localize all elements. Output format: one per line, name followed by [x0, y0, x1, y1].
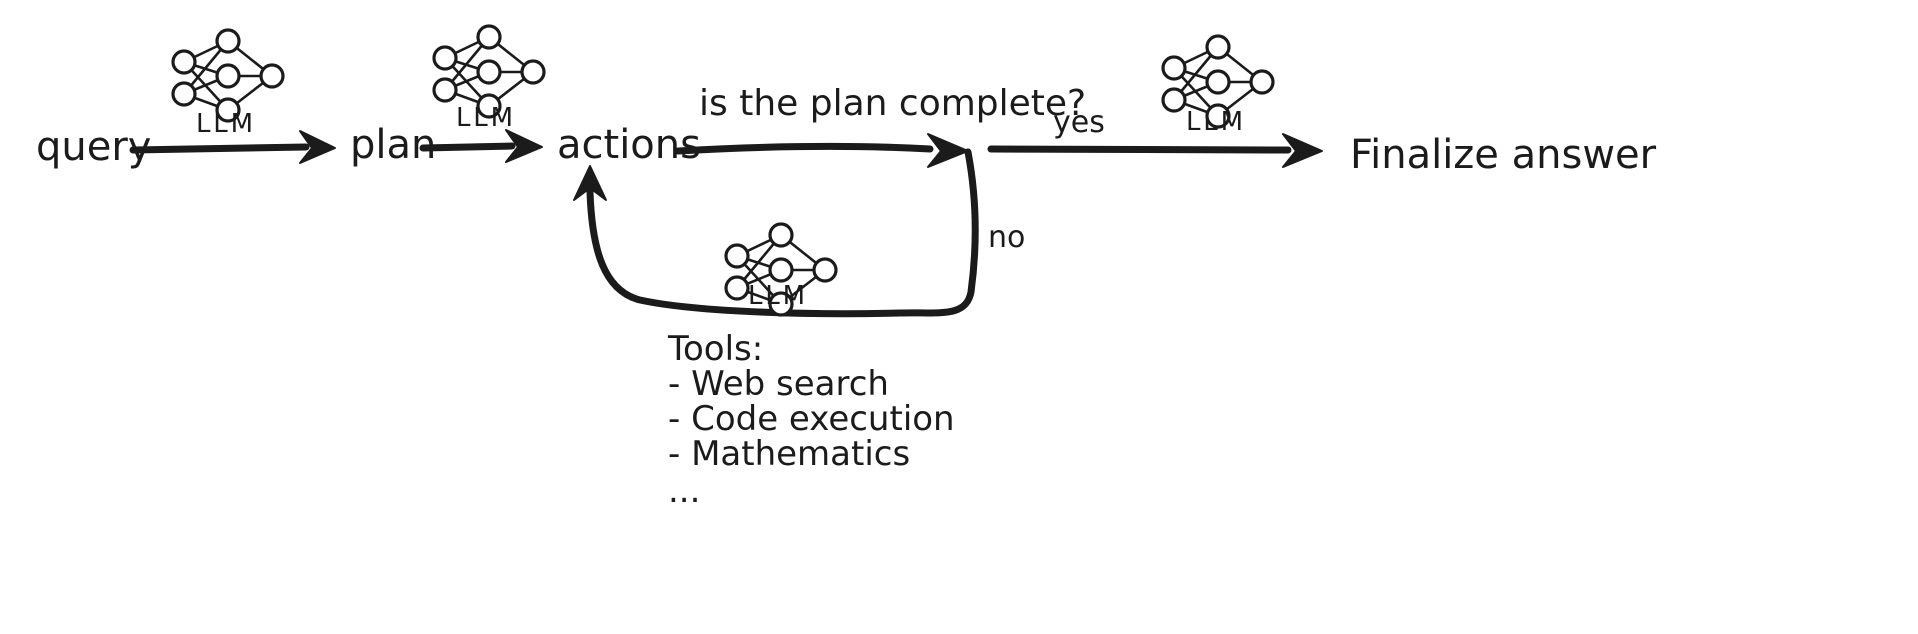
llm-icon-label: LLM [748, 281, 806, 311]
node-label-finalize: Finalize answer [1350, 132, 1657, 178]
llm-icon-finalize: LLM [1163, 36, 1273, 137]
llm-icon-plan-actions: LLM [434, 26, 544, 133]
tools-item: - Code execution [668, 399, 955, 439]
node-label-actions: actions [557, 122, 701, 168]
tools-heading: Tools: [667, 329, 763, 369]
neural-network-icon [434, 26, 544, 117]
tools-ellipsis: ... [668, 471, 700, 511]
tools-item: - Web search [668, 364, 889, 404]
decision-question: is the plan complete? [699, 83, 1086, 124]
llm-icon-loop-tools: LLM [726, 224, 836, 315]
arrowhead-icon [928, 134, 968, 167]
neural-network-icon [726, 224, 836, 315]
arrow-plan-to-actions [423, 130, 542, 162]
llm-icon-query-plan: LLM [173, 30, 283, 139]
arrow-actions-to-decision [678, 134, 968, 167]
decision-question-label: is the plan complete? [699, 83, 1086, 124]
no-branch-label: no [988, 220, 1025, 255]
yes-branch-label: yes [1053, 105, 1105, 140]
diagram-canvas: query LLM plan LLM actions is the pl [0, 0, 1918, 634]
step-finalize: Finalize answer [1350, 132, 1657, 178]
step-actions: actions [557, 122, 701, 168]
llm-icon-label: LLM [456, 103, 514, 133]
agent-workflow-diagram: query LLM plan LLM actions is the pl [0, 0, 1918, 634]
neural-network-icon [173, 30, 283, 121]
tools-item: - Mathematics [668, 434, 910, 474]
llm-icon-label: LLM [1186, 107, 1244, 137]
llm-icon-label: LLM [196, 109, 254, 139]
tools-list: Tools: - Web search - Code execution - M… [667, 329, 955, 511]
